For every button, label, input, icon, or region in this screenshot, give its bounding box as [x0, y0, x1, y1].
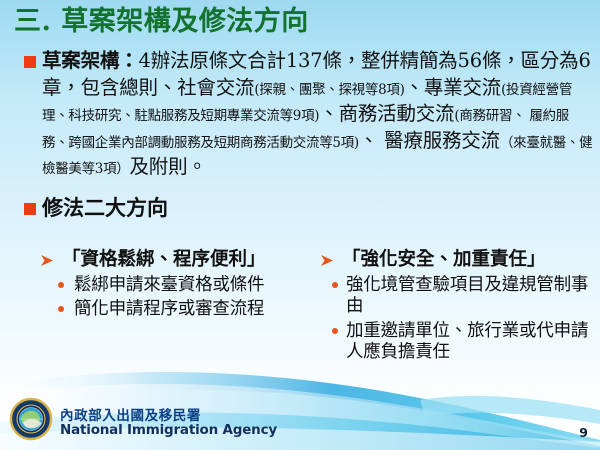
list-item: 簡化申請程序或審查流程: [40, 299, 312, 320]
orange-round-bullet-icon: [58, 282, 64, 288]
slide-footer: 內政部入出國及移民署 National Immigration Agency 9: [0, 386, 600, 450]
directions-columns: 「資格鬆綁、程序便利」 鬆綁申請來臺資格或條件 簡化申請程序或審查流程 「強化安…: [0, 248, 600, 364]
structure-text-after-social: 、專業交流: [405, 76, 502, 99]
orange-arrow-bullet-icon: [40, 251, 55, 266]
structure-note-social: (探親、團聚、探視等8項): [254, 82, 404, 98]
orange-round-bullet-icon: [332, 328, 338, 334]
list-item-label: 鬆綁申請來臺資格或條件: [74, 275, 264, 295]
column-security-responsibility: 「強化安全、加重責任」 強化境管查驗項目及違規管制事由 加重邀請單位、旅行業或代…: [312, 248, 600, 364]
structure-lead-label: 草案架構：: [42, 49, 139, 72]
structure-text-after-business: 、 醫療服務交流: [359, 129, 500, 152]
list-item-label: 強化境管查驗項目及違規管制事由: [346, 275, 588, 316]
structure-text-tail: 及附則。: [130, 155, 207, 178]
page-number: 9: [579, 425, 588, 440]
list-item: 加重邀請單位、旅行業或代申請人應負擔責任: [320, 321, 600, 364]
slide-body: 草案架構：4辦法原條文合計137條，整併精簡為56條，區分為6章，包含總則、社會…: [0, 48, 600, 220]
orange-arrow-bullet-icon: [320, 251, 335, 266]
structure-text-after-professional: 、商務活動交流: [319, 102, 454, 125]
list-item: 強化境管查驗項目及違規管制事由: [320, 275, 600, 318]
structure-paragraph: 草案架構：4辦法原條文合計137條，整併精簡為56條，區分為6章，包含總則、社會…: [42, 48, 600, 181]
column-right-title: 「強化安全、加重責任」: [342, 249, 546, 270]
list-item-label: 簡化申請程序或審查流程: [74, 299, 264, 319]
orange-round-bullet-icon: [58, 306, 64, 312]
column-left-title: 「資格鬆綁、程序便利」: [62, 249, 266, 270]
slide-canvas: 三. 草案架構及修法方向 草案架構：4辦法原條文合計137條，整併精簡為56條，…: [0, 0, 600, 450]
red-square-bullet-icon: [24, 56, 36, 68]
orange-round-bullet-icon: [332, 282, 338, 288]
column-qualification-relaxation: 「資格鬆綁、程序便利」 鬆綁申請來臺資格或條件 簡化申請程序或審查流程: [0, 248, 312, 364]
list-item: 鬆綁申請來臺資格或條件: [40, 275, 312, 296]
org-name-en: National Immigration Agency: [60, 423, 277, 438]
bullet-directions: 修法二大方向: [0, 195, 600, 220]
red-square-bullet-icon: [24, 203, 36, 215]
list-item-label: 加重邀請單位、旅行業或代申請人應負擔責任: [346, 321, 588, 362]
column-left-title-row: 「資格鬆綁、程序便利」: [40, 248, 312, 271]
column-right-title-row: 「強化安全、加重責任」: [320, 248, 600, 271]
organization-names: 內政部入出國及移民署 National Immigration Agency: [60, 409, 277, 438]
page-title: 三. 草案架構及修法方向: [14, 6, 309, 38]
org-name-zh: 內政部入出國及移民署: [60, 409, 277, 424]
national-immigration-agency-emblem-icon: [9, 397, 53, 441]
directions-heading: 修法二大方向: [42, 195, 600, 220]
bullet-structure: 草案架構：4辦法原條文合計137條，整併精簡為56條，區分為6章，包含總則、社會…: [0, 48, 600, 181]
